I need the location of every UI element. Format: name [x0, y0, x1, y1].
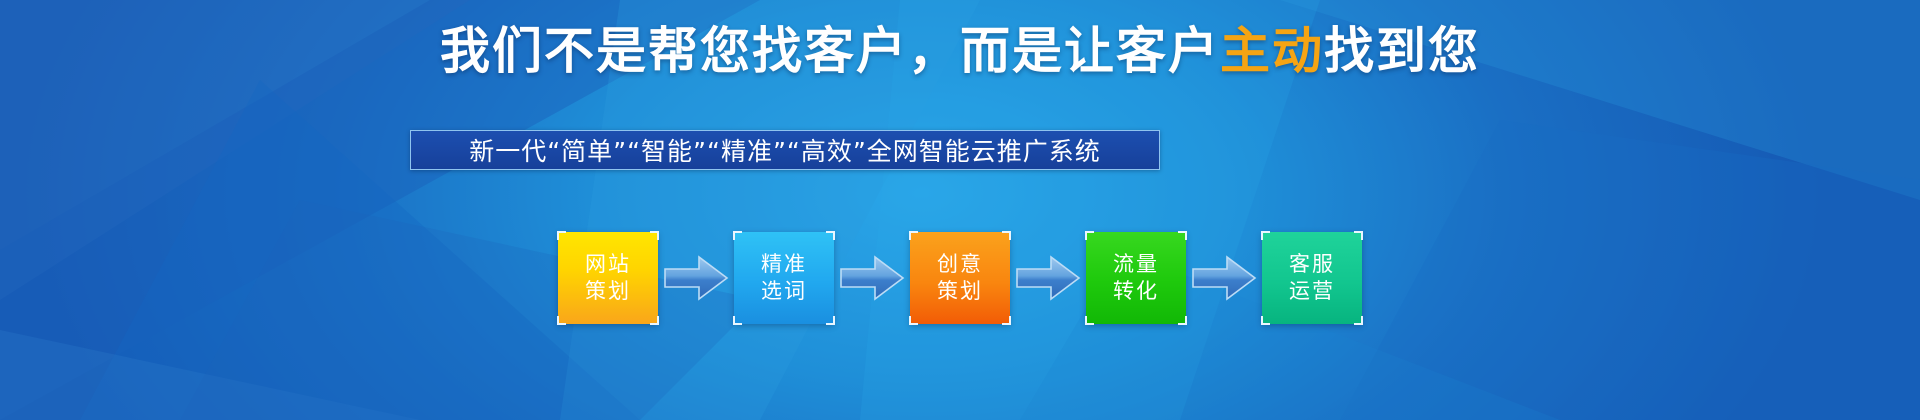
corner-mark-icon [1178, 316, 1187, 325]
step-label-line1: 精准 [761, 251, 807, 278]
right-arrow-icon [1015, 255, 1081, 301]
step-customer-service-ops[interactable]: 客服 运营 [1262, 232, 1362, 324]
promo-banner: 我们不是帮您找客户，而是让客户主动找到您 新一代“简单”“智能”“精准”“高效”… [0, 0, 1920, 420]
step-label-line2: 运营 [1289, 278, 1335, 305]
corner-mark-icon [826, 231, 835, 240]
step-label-line2: 策划 [937, 278, 983, 305]
step-label-line2: 转化 [1113, 278, 1159, 305]
process-flow: 网站 策划 精准 选词 [0, 228, 1920, 328]
corner-mark-icon [557, 231, 566, 240]
flow-arrow-4 [1186, 232, 1262, 324]
page-title: 我们不是帮您找客户，而是让客户主动找到您 [0, 22, 1920, 80]
corner-mark-icon [1354, 231, 1363, 240]
corner-mark-icon [1085, 316, 1094, 325]
flow-arrow-1 [658, 232, 734, 324]
corner-mark-icon [1178, 231, 1187, 240]
step-label-line2: 策划 [585, 278, 631, 305]
step-label-line1: 客服 [1289, 251, 1335, 278]
corner-mark-icon [650, 316, 659, 325]
step-keyword-selection[interactable]: 精准 选词 [734, 232, 834, 324]
corner-mark-icon [1002, 316, 1011, 325]
corner-mark-icon [909, 316, 918, 325]
corner-mark-icon [557, 316, 566, 325]
corner-mark-icon [1261, 316, 1270, 325]
corner-mark-icon [909, 231, 918, 240]
corner-mark-icon [1085, 231, 1094, 240]
headline-highlight: 主动 [1220, 22, 1324, 80]
corner-mark-icon [1261, 231, 1270, 240]
step-label-line1: 网站 [585, 251, 631, 278]
step-label-line1: 流量 [1113, 251, 1159, 278]
corner-mark-icon [1002, 231, 1011, 240]
subtitle-text: 新一代“简单”“智能”“精准”“高效”全网智能云推广系统 [469, 132, 1101, 168]
flow-arrow-2 [834, 232, 910, 324]
headline-part1: 我们不是帮您找客户，而是让客户 [440, 22, 1220, 80]
step-website-planning[interactable]: 网站 策划 [558, 232, 658, 324]
corner-mark-icon [733, 316, 742, 325]
right-arrow-icon [1191, 255, 1257, 301]
subtitle-bar: 新一代“简单”“智能”“精准”“高效”全网智能云推广系统 [410, 130, 1160, 170]
headline-part2: 找到您 [1324, 22, 1480, 80]
step-label-line1: 创意 [937, 251, 983, 278]
step-label-line2: 选词 [761, 278, 807, 305]
corner-mark-icon [826, 316, 835, 325]
corner-mark-icon [733, 231, 742, 240]
step-creative-planning[interactable]: 创意 策划 [910, 232, 1010, 324]
flow-arrow-3 [1010, 232, 1086, 324]
right-arrow-icon [663, 255, 729, 301]
step-traffic-conversion[interactable]: 流量 转化 [1086, 232, 1186, 324]
right-arrow-icon [839, 255, 905, 301]
corner-mark-icon [650, 231, 659, 240]
corner-mark-icon [1354, 316, 1363, 325]
